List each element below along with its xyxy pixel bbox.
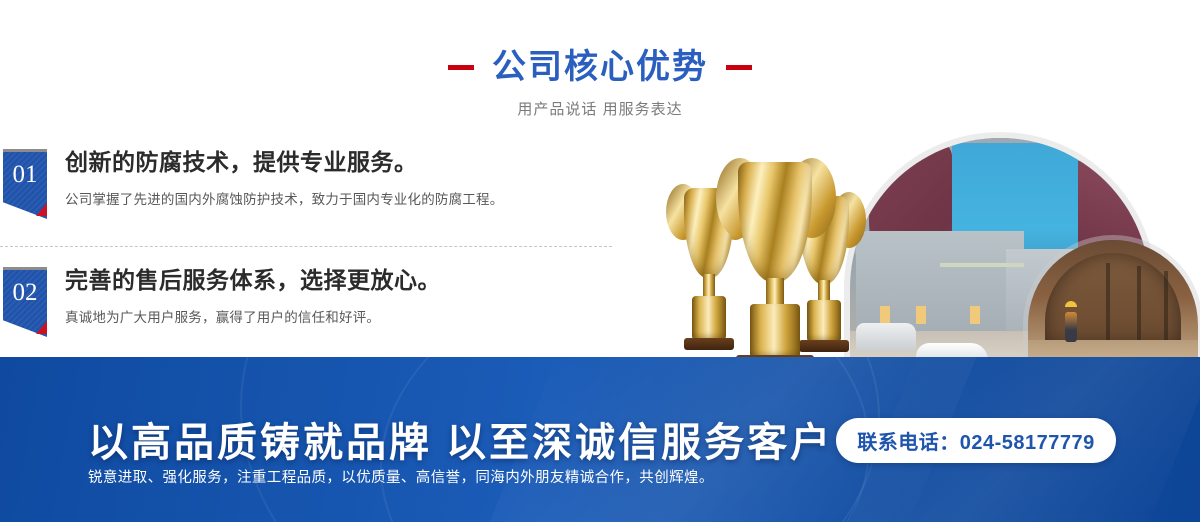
feature-title: 创新的防腐技术，提供专业服务。 (65, 145, 625, 179)
banner-tagline: 锐意进取、强化服务，注重工程品质，以优质量、高信誉，同海内外朋友精诚合作，共创辉… (88, 466, 714, 487)
photo-window (970, 306, 980, 324)
feature-list: 01 创新的防腐技术，提供专业服务。 公司掌握了先进的国内外腐蚀防护技术，致力于… (0, 140, 640, 355)
badge-red-notch-icon (36, 321, 47, 334)
contact-phone-text: 联系电话：024-58177779 (857, 426, 1095, 455)
tunnel-post (1106, 263, 1110, 340)
feature-description: 公司掌握了先进的国内外腐蚀防护技术，致力于国内专业化的防腐工程。 (65, 190, 625, 210)
tunnel-post (1137, 266, 1141, 340)
badge-red-notch-icon (36, 203, 47, 216)
page-title: 公司核心优势 (492, 50, 708, 84)
page-title-row: 公司核心优势 (0, 42, 1200, 92)
photo-collage (640, 128, 1200, 368)
feature-item-01: 01 创新的防腐技术，提供专业服务。 公司掌握了先进的国内外腐蚀防护技术，致力于… (0, 145, 640, 237)
page-subtitle: 用产品说话 用服务表达 (0, 98, 1200, 119)
tunnel-worker (1065, 312, 1077, 342)
feature-text-block: 完善的售后服务体系，选择更放心。 真诚地为广大用户服务，赢得了用户的信任和好评。 (65, 263, 625, 328)
ribbon-badge-icon: 01 (3, 149, 47, 219)
banner-slogan: 以高品质铸就品牌 以至深诚信服务客户 (88, 410, 833, 468)
tunnel-post (1164, 271, 1168, 340)
feature-divider (0, 246, 612, 247)
feature-item-02: 02 完善的售后服务体系，选择更放心。 真诚地为广大用户服务，赢得了用户的信任和… (0, 263, 640, 355)
photo-window (916, 306, 926, 324)
photo-walkway (940, 263, 1024, 267)
header-section: 公司核心优势 用产品说话 用服务表达 (0, 0, 1200, 130)
dash-right-icon (726, 65, 752, 70)
feature-text-block: 创新的防腐技术，提供专业服务。 公司掌握了先进的国内外腐蚀防护技术，致力于国内专… (65, 145, 625, 210)
badge-number: 02 (3, 279, 47, 307)
ribbon-badge-icon: 02 (3, 267, 47, 337)
badge-number: 01 (3, 161, 47, 189)
contact-phone-button[interactable]: 联系电话：024-58177779 (836, 418, 1116, 463)
feature-title: 完善的售后服务体系，选择更放心。 (65, 263, 625, 297)
feature-description: 真诚地为广大用户服务，赢得了用户的信任和好评。 (65, 308, 625, 328)
dash-left-icon (448, 65, 474, 70)
three-gold-trophies (660, 136, 890, 368)
promo-page: 公司核心优势 用产品说话 用服务表达 01 创新的防腐技术，提供专业服务。 公司… (0, 0, 1200, 522)
